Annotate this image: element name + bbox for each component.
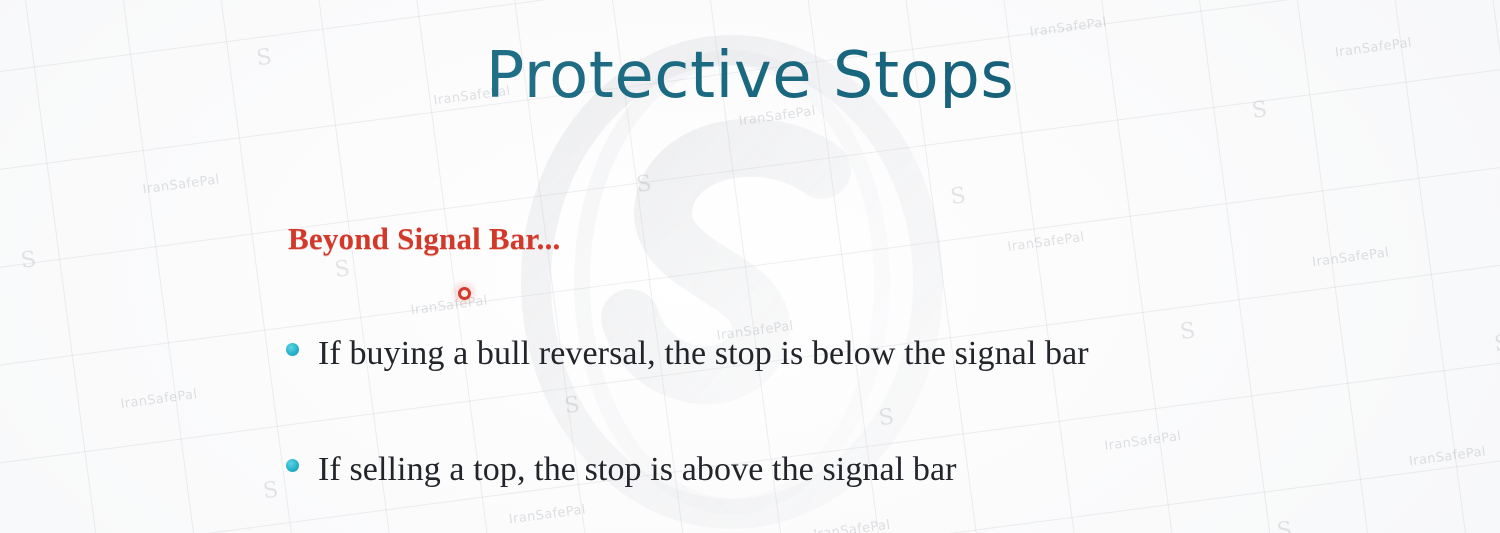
page-title: Protective Stops (0, 44, 1500, 108)
slide-content: Protective Stops Beyond Signal Bar... If… (0, 0, 1500, 533)
bullet-dot-icon (286, 459, 299, 472)
list-item: If selling a top, the stop is above the … (286, 450, 957, 489)
slide-canvas: IranSafePal IranSafePal IranSafePal Iran… (0, 0, 1500, 533)
list-item-label: If buying a bull reversal, the stop is b… (318, 334, 1089, 373)
red-ring-shape (458, 287, 471, 300)
red-ring-icon (450, 279, 478, 307)
list-item: If buying a bull reversal, the stop is b… (286, 334, 1089, 373)
bullet-dot-icon (286, 343, 299, 356)
section-subheading: Beyond Signal Bar... (288, 222, 560, 256)
list-item-label: If selling a top, the stop is above the … (318, 450, 957, 489)
